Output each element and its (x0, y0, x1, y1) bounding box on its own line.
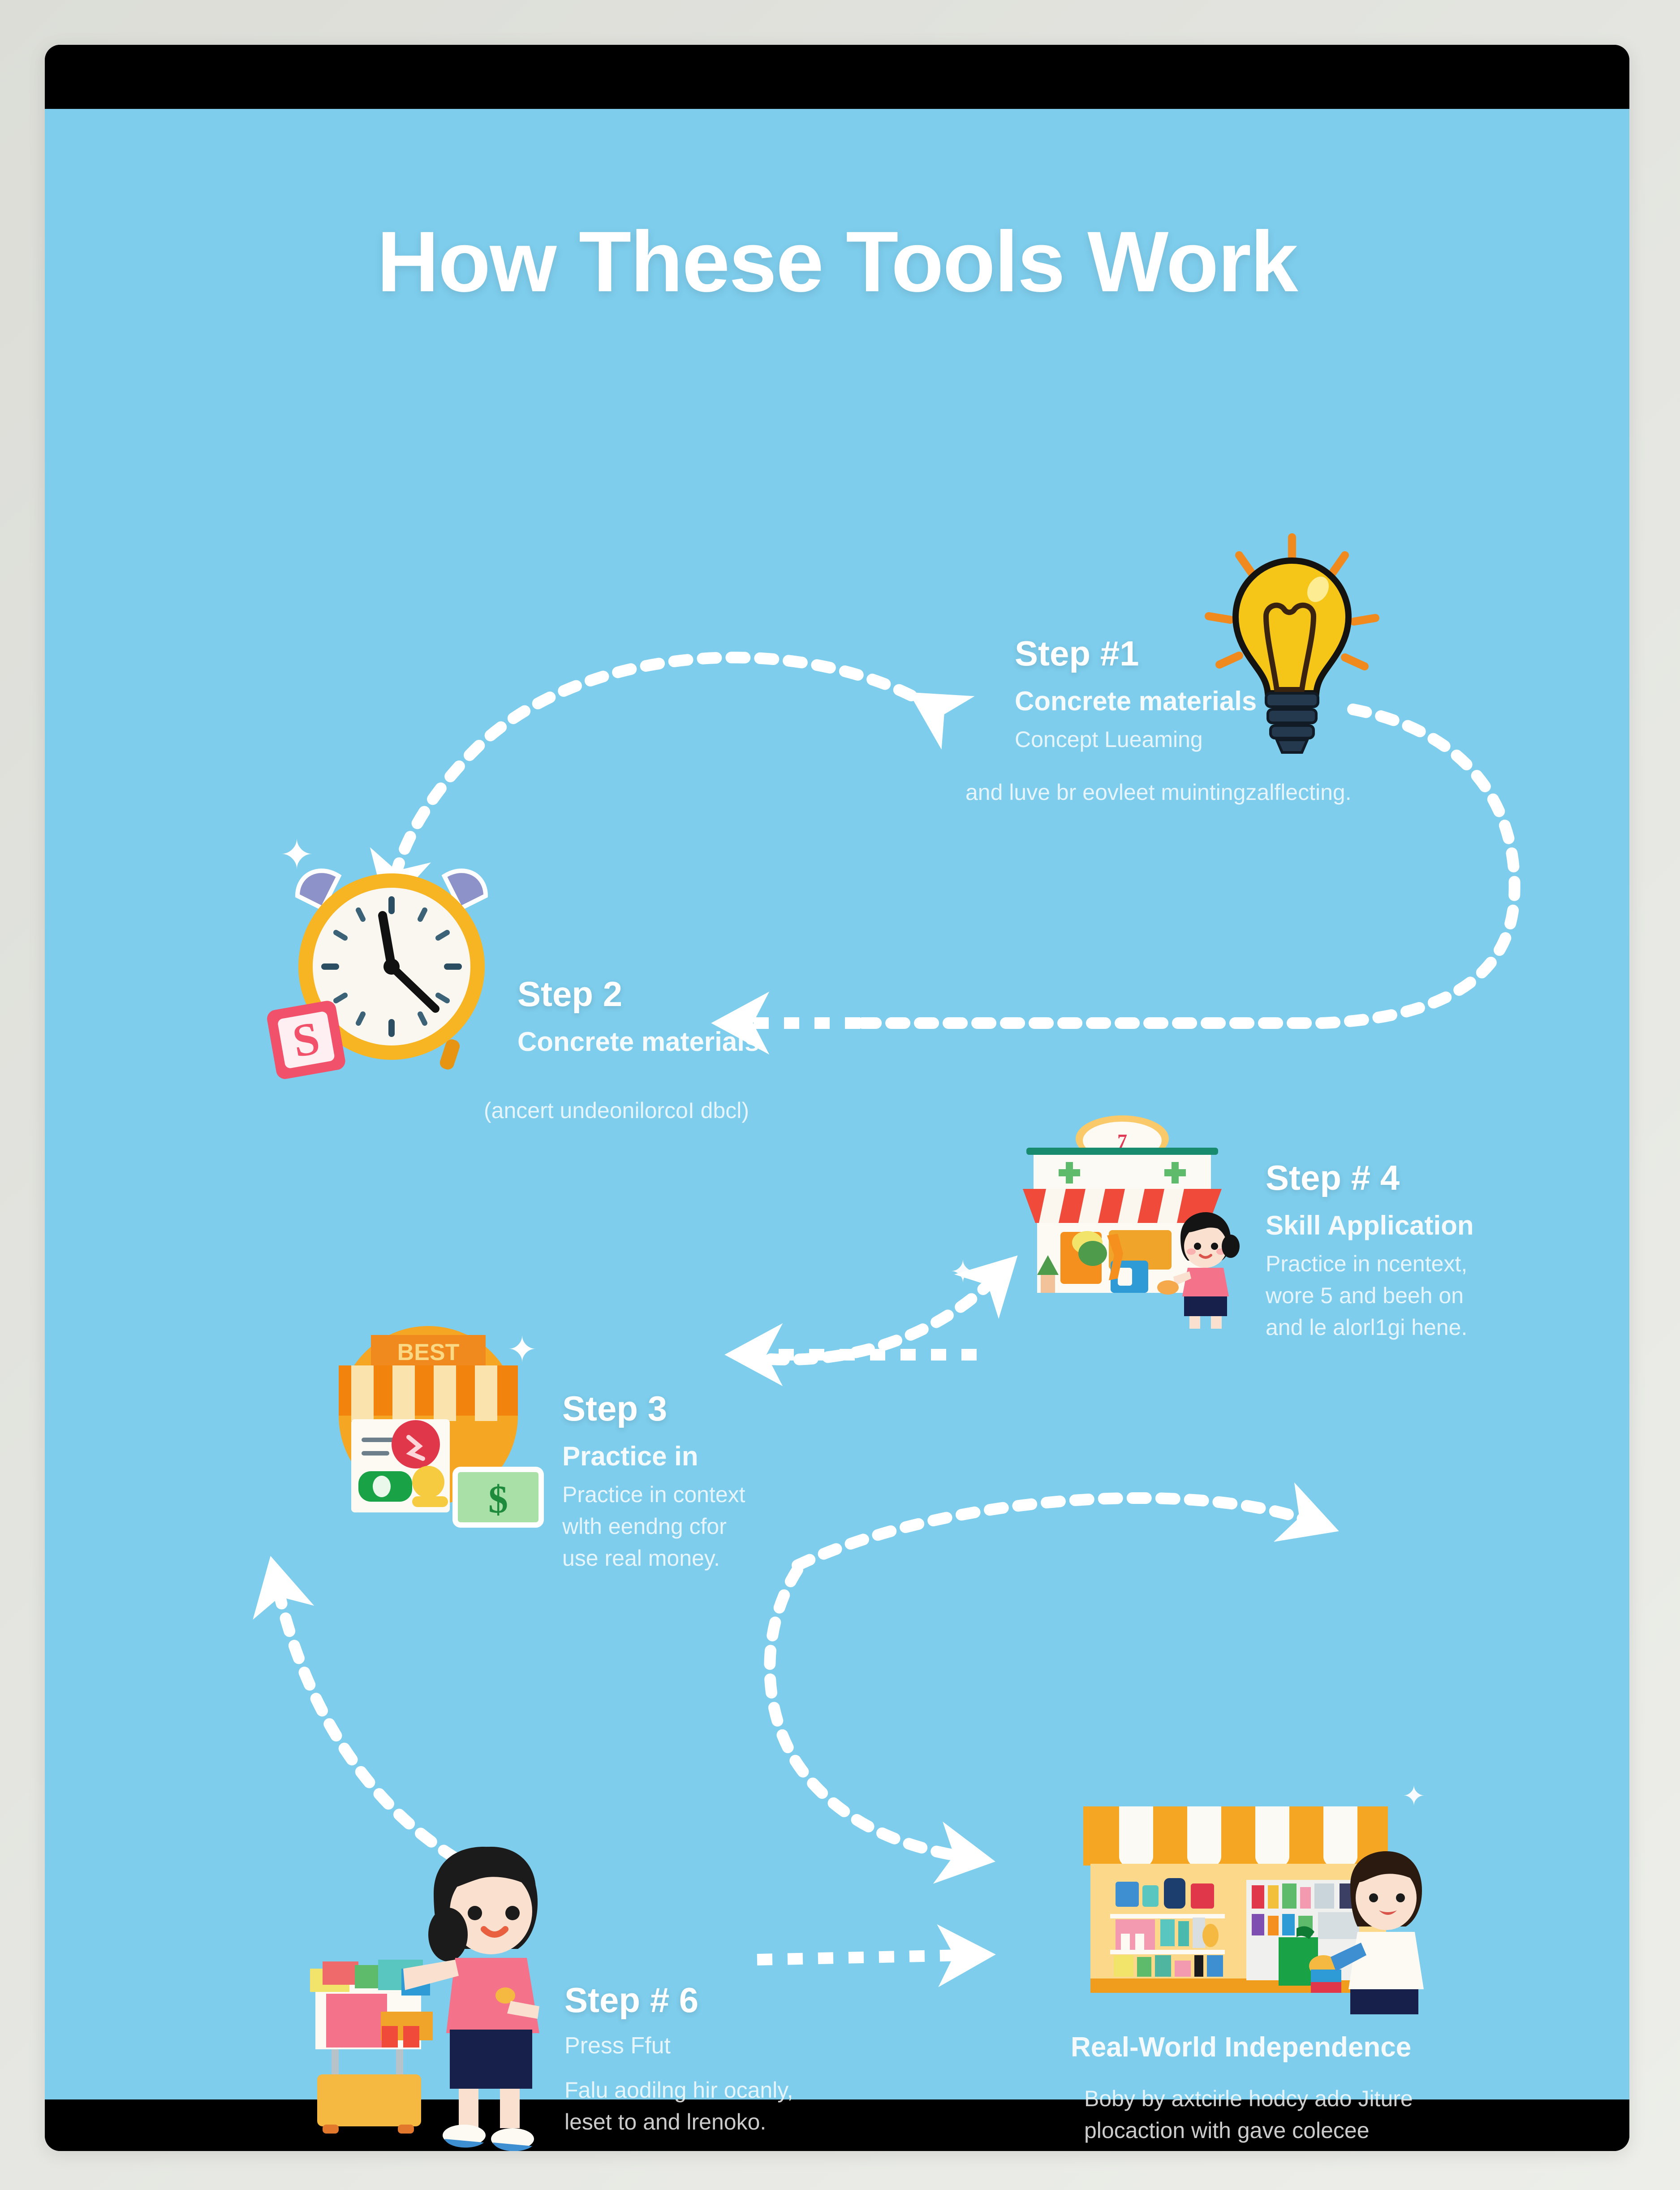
step-6-heading: Press Ffut (564, 2032, 968, 2059)
lightbulb-icon (1196, 530, 1389, 754)
final-body: Boby by axtcirle hodcy ado Jiture plocac… (1084, 2083, 1581, 2147)
step-6-block: Step # 6 Press Ffut Falu aodilng hir oca… (564, 1980, 968, 2138)
step-2-block: Step 2 Concrete materials (517, 974, 921, 1064)
step-6-number: Step # 6 (564, 1980, 968, 2021)
connector-step3-to-4 (771, 1279, 995, 1360)
frame-bar-top (45, 45, 1629, 109)
step-4-body: Practice in ncentext, wore 5 and beeh on… (1266, 1248, 1629, 1343)
step-4-number: Step # 4 (1266, 1158, 1629, 1198)
step-3-body: Practice in context wlth eendng cfor use… (562, 1479, 965, 1574)
step-4-heading: Skill Application (1266, 1210, 1629, 1241)
connector-bottom-left (278, 1588, 506, 1883)
connector-right-loop (860, 709, 1515, 1023)
final-heading: Real-World Independence (1071, 2031, 1581, 2063)
sparkle-icon-step4: ✦ (950, 1256, 976, 1287)
svg-text:✦: ✦ (280, 832, 314, 878)
grocery-store-boy-icon (1071, 1803, 1429, 2027)
step-2-body: (ancert undeonilorcoI dbcl) (484, 1095, 887, 1127)
shop-badge-icon: BEST (332, 1319, 542, 1525)
step-1-body: and luve br eovleet muintingzalflecting. (965, 777, 1449, 808)
step-2-number: Step 2 (517, 974, 921, 1015)
svg-text:BEST: BEST (397, 1339, 460, 1365)
step-3-number: Step 3 (562, 1388, 965, 1429)
step-3-heading: Practice in (562, 1441, 965, 1472)
infographic-canvas: How These Tools Work (45, 109, 1629, 2099)
step-2-heading: Concrete materials (517, 1026, 921, 1057)
step-4-block: Step # 4 Skill Application Practice in n… (1266, 1158, 1629, 1343)
svg-text:$: $ (488, 1478, 508, 1521)
svg-text:✦: ✦ (507, 1330, 537, 1369)
storefront-girl-icon: 7 (1010, 1117, 1234, 1305)
step-6-body: Falu aodilng hir ocanly, leset to and lr… (564, 2074, 968, 2138)
step-3-block: Step 3 Practice in Practice in context w… (562, 1388, 965, 1574)
final-block: Real-World Independence Boby by axtcirle… (1071, 2031, 1581, 2147)
connector-step6-out (757, 1955, 963, 1960)
alarm-clock-icon: ✦ (251, 826, 529, 1086)
girl-shopping-cart-icon (296, 1843, 551, 2151)
poster-frame: How These Tools Work (45, 45, 1629, 2151)
page-root: How These Tools Work (0, 0, 1680, 2190)
page-title: How These Tools Work (45, 212, 1629, 311)
